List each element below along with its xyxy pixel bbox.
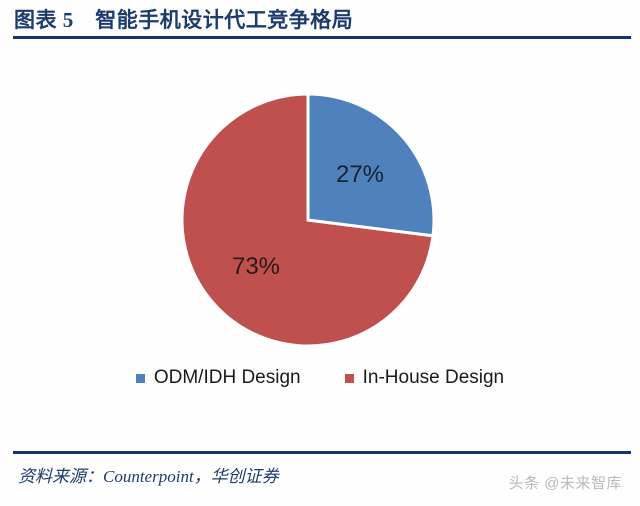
figure-container: 图表 5 智能手机设计代工竞争格局 27% 73% ODM/IDH Design… xyxy=(0,0,640,506)
chart-legend: ODM/IDH Design In-House Design xyxy=(0,356,640,400)
chart-area: 27% 73% ODM/IDH Design In-House Design xyxy=(0,46,640,444)
legend-swatch-inhouse-icon xyxy=(345,374,354,383)
source-note: 资料来源：Counterpoint，华创证券 xyxy=(18,462,279,487)
title-divider xyxy=(13,36,631,39)
pie-chart: 27% 73% xyxy=(0,46,640,356)
footer-divider xyxy=(13,451,631,454)
pie-chart-svg: 27% 73% xyxy=(0,46,640,356)
pie-label-in-house-design: 73% xyxy=(232,253,280,280)
legend-swatch-odm-icon xyxy=(136,374,145,383)
legend-label-odm-idh-design: ODM/IDH Design xyxy=(154,367,301,389)
page-title: 图表 5 智能手机设计代工竞争格局 xyxy=(14,4,353,34)
legend-label-in-house-design: In-House Design xyxy=(363,367,505,389)
legend-item-in-house-design[interactable]: In-House Design xyxy=(345,367,505,389)
watermark: 头条 @未来智库 xyxy=(509,472,622,493)
pie-label-odm-idh-design: 27% xyxy=(336,161,384,188)
legend-item-odm-idh-design[interactable]: ODM/IDH Design xyxy=(136,367,301,389)
title-block: 图表 5 智能手机设计代工竞争格局 xyxy=(0,0,640,44)
